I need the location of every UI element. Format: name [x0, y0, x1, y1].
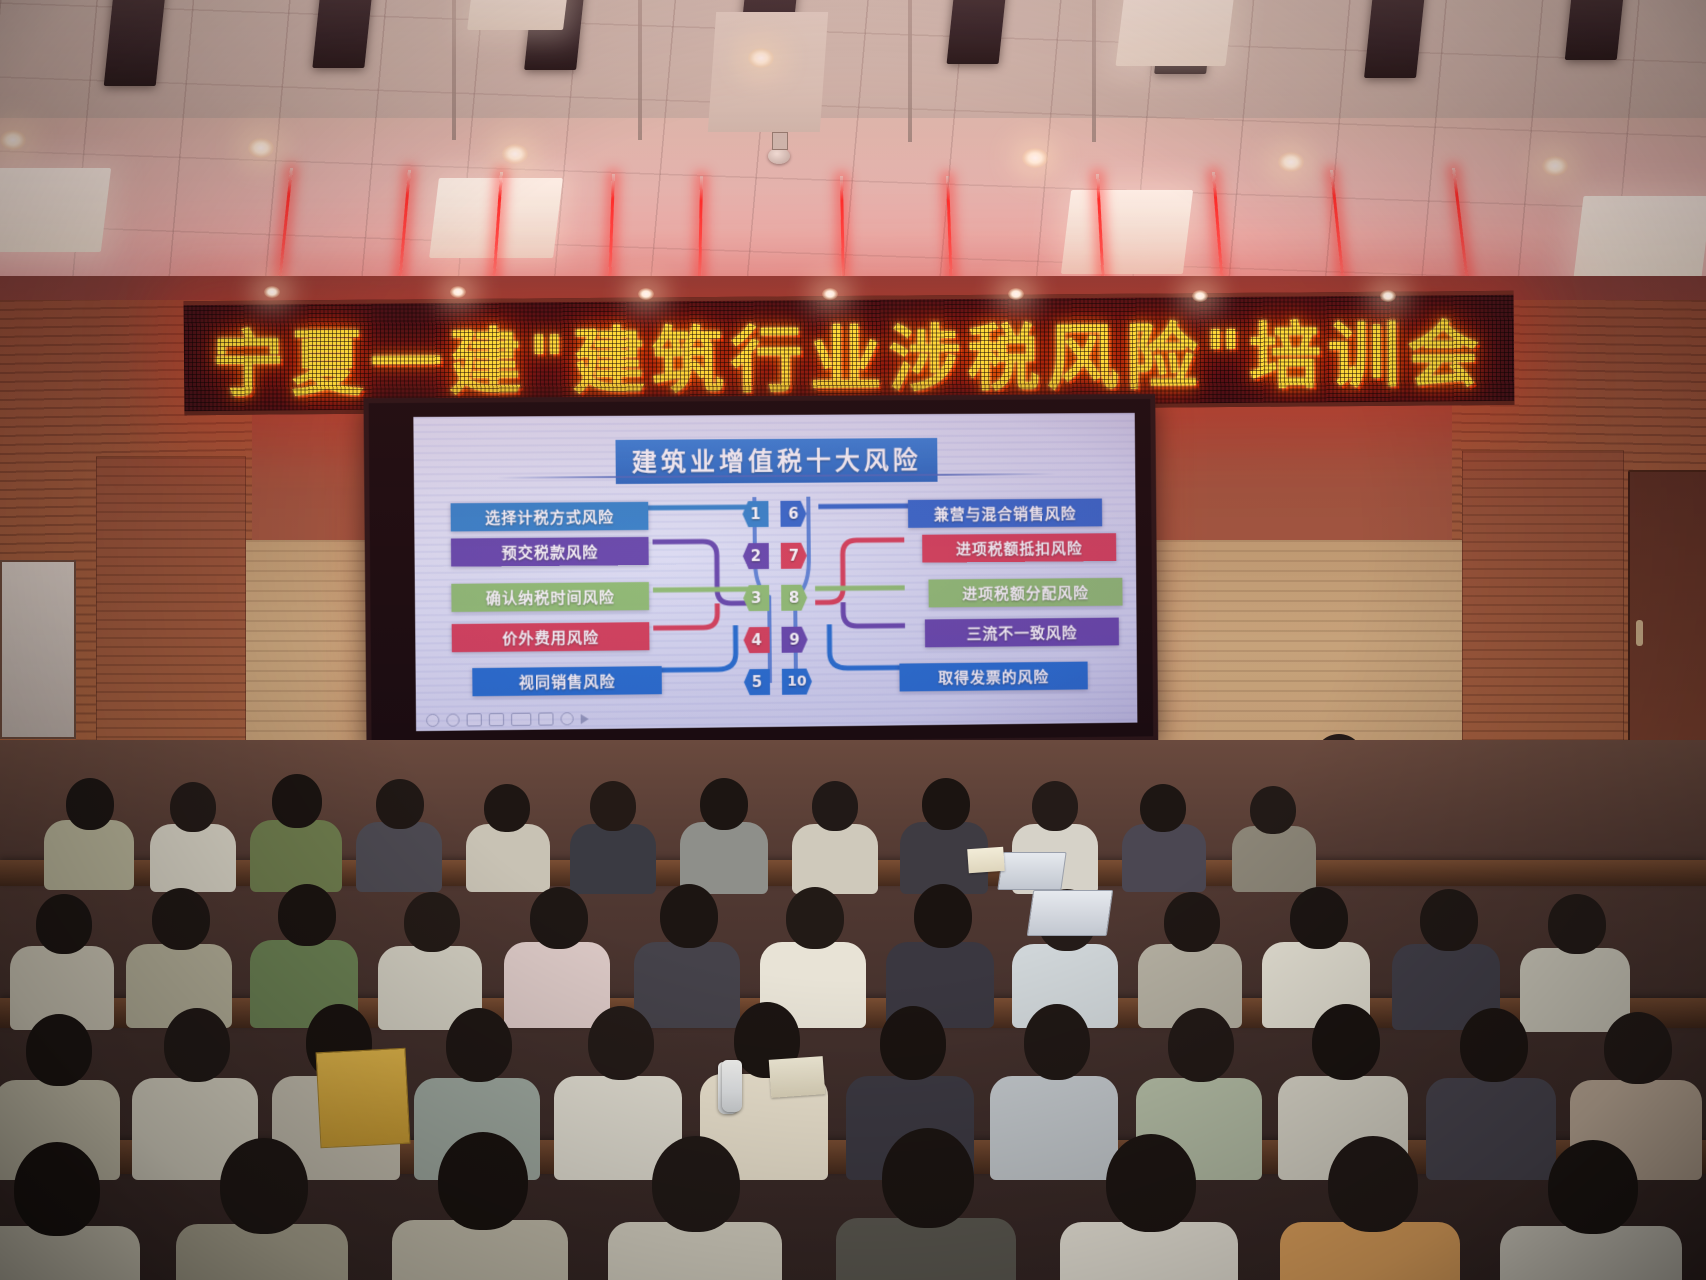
audience-member	[126, 886, 232, 1018]
person-body	[356, 822, 442, 892]
audience-member	[1520, 890, 1630, 1022]
risk-item-right-5: 取得发票的风险	[899, 662, 1087, 692]
person-head	[1548, 1140, 1638, 1234]
wall-spotlight	[1380, 290, 1396, 302]
person-head	[590, 781, 636, 831]
ceiling-panel-light	[1115, 0, 1234, 66]
risk-label: 进项税额抵扣风险	[956, 537, 1083, 559]
person-body	[44, 820, 134, 890]
ceiling-downlight	[248, 138, 274, 158]
risk-item-left-1: 选择计税方式风险	[451, 502, 649, 532]
person-head	[36, 894, 92, 954]
person-head	[404, 892, 460, 952]
wall-spotlight	[1192, 290, 1208, 302]
ceiling-drop-box	[708, 12, 828, 132]
audience-member	[680, 774, 768, 884]
slide-canvas: 建筑业增值税十大风险	[413, 413, 1137, 731]
audience-member	[1280, 1136, 1460, 1280]
person-head	[1250, 786, 1296, 834]
person-head	[484, 784, 530, 832]
audience-laptop	[997, 852, 1066, 890]
number-label: 3	[751, 589, 762, 607]
risk-item-right-2: 进项税额抵扣风险	[922, 533, 1116, 562]
number-label: 10	[787, 674, 807, 690]
audience-laptop	[1027, 890, 1113, 936]
person-head	[588, 1006, 654, 1080]
audience-member	[634, 882, 740, 1018]
audience-member	[356, 774, 442, 882]
ceiling	[0, 0, 1706, 300]
risk-item-right-1: 兼营与混合销售风险	[908, 499, 1102, 528]
person-head	[786, 887, 844, 949]
paper-sheet	[769, 1056, 826, 1098]
wall-side-panel-left	[96, 456, 246, 758]
person-head	[1290, 887, 1348, 949]
audience-member	[0, 1142, 140, 1280]
person-body	[1122, 824, 1206, 892]
person-head	[446, 1008, 512, 1082]
conference-photo: 宁夏一建"建筑行业涉税风险"培训会 建筑业增值税十大风险	[0, 0, 1706, 1280]
truss-rod	[1092, 0, 1096, 142]
risk-label: 三流不一致风险	[967, 621, 1078, 643]
ceiling-sensor	[772, 132, 788, 150]
person-head	[272, 774, 322, 828]
person-head	[530, 887, 588, 949]
risk-number-10: 10	[782, 668, 812, 694]
pen-icon[interactable]	[467, 713, 482, 726]
person-head	[812, 781, 858, 831]
circle-icon[interactable]	[446, 714, 459, 727]
ceiling-downlight	[1542, 156, 1568, 176]
circle-icon[interactable]	[426, 714, 439, 727]
number-label: 5	[752, 673, 763, 691]
audience-member	[176, 1138, 348, 1280]
audience-member	[10, 890, 114, 1020]
play-icon[interactable]	[581, 714, 589, 724]
number-label: 1	[750, 505, 761, 523]
person-body	[1500, 1226, 1682, 1280]
audience-member	[250, 882, 358, 1018]
risk-label: 进项税额分配风险	[962, 582, 1089, 604]
ceiling-downlight	[748, 48, 774, 68]
person-head	[1140, 784, 1186, 832]
audience-member	[44, 772, 134, 882]
wall-spotlight	[450, 286, 466, 298]
slides-icon[interactable]	[538, 712, 553, 725]
led-banner-text: 宁夏一建"建筑行业涉税风险"培训会	[184, 295, 1515, 410]
audience-member	[1138, 888, 1242, 1018]
person-head	[1024, 1004, 1090, 1080]
door-handle-icon	[1636, 620, 1643, 646]
person-head	[914, 884, 972, 948]
person-head	[26, 1014, 92, 1086]
person-head	[170, 782, 216, 832]
risk-label: 选择计税方式风险	[485, 506, 614, 528]
person-head	[700, 778, 748, 830]
audience-member	[760, 884, 866, 1018]
side-projection-screen	[0, 560, 76, 739]
audience-member	[570, 776, 656, 884]
person-body	[150, 824, 236, 892]
risk-label: 取得发票的风险	[938, 665, 1049, 687]
person-head	[882, 1128, 974, 1228]
slide-toolbar[interactable]	[426, 712, 589, 727]
wall-side-panel-right	[1462, 450, 1624, 762]
wall-spotlight	[822, 288, 838, 300]
risk-item-left-5: 视同销售风险	[472, 666, 662, 696]
audience-member	[608, 1136, 782, 1280]
audience-member	[792, 776, 878, 884]
person-head	[66, 778, 114, 830]
ceiling-downlight	[1278, 152, 1304, 172]
projection-screen: 建筑业增值税十大风险	[363, 394, 1158, 751]
person-head	[164, 1008, 230, 1082]
person-head	[1420, 889, 1478, 951]
audience-member	[150, 776, 236, 884]
ceiling-panel-light	[0, 168, 111, 252]
audience-member	[378, 888, 482, 1020]
audience-member	[836, 1128, 1016, 1280]
person-head	[376, 779, 424, 829]
truss-rod	[452, 0, 456, 140]
audience-member	[1232, 780, 1316, 884]
risk-item-left-4: 价外费用风险	[452, 622, 650, 652]
smoke-detector-icon	[768, 148, 790, 164]
person-body	[466, 824, 550, 892]
audience-member	[886, 882, 994, 1018]
audience-member	[1262, 884, 1370, 1018]
person-head	[278, 884, 336, 946]
fullscreen-icon[interactable]	[489, 713, 504, 726]
number-label: 9	[789, 631, 800, 649]
risk-item-right-3: 进项税额分配风险	[928, 578, 1122, 608]
audience-member	[504, 884, 610, 1018]
audience-area	[0, 740, 1706, 1280]
person-head	[1106, 1134, 1196, 1232]
person-head	[220, 1138, 308, 1234]
water-bottle	[722, 1060, 742, 1112]
person-head	[1164, 892, 1220, 952]
risk-label: 确认纳税时间风险	[486, 586, 615, 608]
risk-label: 视同销售风险	[519, 670, 616, 692]
ceiling-downlight	[0, 130, 26, 150]
wall-spotlight	[1008, 288, 1024, 300]
risk-item-right-4: 三流不一致风险	[925, 618, 1119, 648]
risk-label: 预交税款风险	[501, 541, 598, 563]
audience-member	[1060, 1134, 1238, 1280]
person-head	[14, 1142, 100, 1236]
risk-item-left-3: 确认纳税时间风险	[451, 582, 649, 612]
risk-item-left-2: 预交税款风险	[451, 537, 649, 567]
audience-member	[1392, 886, 1500, 1020]
person-head	[438, 1132, 528, 1230]
ceiling-panel-light	[1572, 196, 1706, 286]
person-head	[1460, 1008, 1528, 1082]
number-label: 7	[789, 547, 800, 565]
paper-sheet	[967, 847, 1005, 873]
wall-spotlight	[264, 286, 280, 298]
ceiling-panel-light	[1061, 190, 1193, 274]
truss-rod	[908, 0, 912, 142]
number-label: 6	[788, 505, 799, 523]
audience-member	[392, 1132, 568, 1280]
person-head	[880, 1006, 946, 1080]
risk-label: 价外费用风险	[502, 626, 599, 648]
truss-rod	[638, 0, 642, 140]
ceiling-downlight	[502, 144, 528, 164]
person-head	[1032, 781, 1078, 831]
keyboard-icon[interactable]	[511, 713, 531, 726]
person-head	[1168, 1008, 1234, 1082]
risk-label: 兼营与混合销售风险	[934, 502, 1077, 524]
person-head	[1548, 894, 1606, 954]
person-head	[1604, 1012, 1672, 1084]
ceiling-panel-light	[467, 0, 569, 30]
person-head	[1312, 1004, 1380, 1080]
person-head	[652, 1136, 740, 1232]
comment-icon[interactable]	[560, 712, 573, 725]
ceiling-downlight	[1022, 148, 1048, 168]
number-label: 4	[751, 631, 762, 649]
person-head	[922, 778, 970, 830]
person-head	[152, 888, 210, 950]
person-head	[1328, 1136, 1418, 1232]
audience-member	[1500, 1140, 1682, 1280]
audience-member	[466, 778, 550, 884]
wall-spotlight	[638, 288, 654, 300]
person-body	[1232, 826, 1316, 892]
audience-member	[250, 770, 342, 882]
audience-member	[1122, 778, 1206, 884]
number-label: 8	[789, 589, 800, 607]
person-head	[660, 884, 718, 948]
number-label: 2	[751, 547, 762, 565]
